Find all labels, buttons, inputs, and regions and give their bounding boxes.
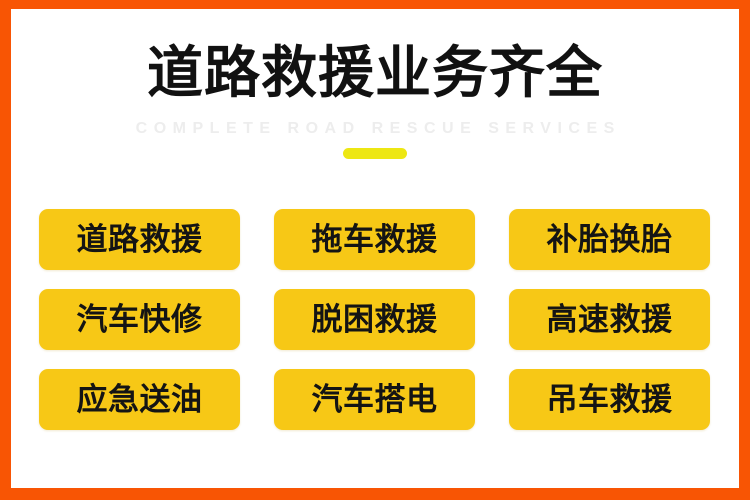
service-button-emergency-fuel-delivery[interactable]: 应急送油 bbox=[39, 369, 240, 430]
title-accent-bar bbox=[343, 148, 407, 159]
service-button-label: 应急送油 bbox=[77, 383, 203, 417]
service-button-extrication-rescue[interactable]: 脱困救援 bbox=[274, 289, 475, 350]
service-button-label: 补胎换胎 bbox=[547, 223, 673, 257]
service-button-tire-repair-replace[interactable]: 补胎换胎 bbox=[509, 209, 710, 270]
service-button-label: 脱困救援 bbox=[312, 303, 438, 337]
service-button-quick-car-repair[interactable]: 汽车快修 bbox=[39, 289, 240, 350]
service-button-jump-start[interactable]: 汽车搭电 bbox=[274, 369, 475, 430]
service-grid: 道路救援 拖车救援 补胎换胎 汽车快修 脱困救援 高速救援 应急送油 汽车搭电 bbox=[39, 209, 711, 430]
service-button-label: 汽车搭电 bbox=[312, 383, 438, 417]
page-subtitle: COMPLETE ROAD RESCUE SERVICES bbox=[11, 119, 739, 139]
service-button-label: 高速救援 bbox=[547, 303, 673, 337]
service-button-highway-rescue[interactable]: 高速救援 bbox=[509, 289, 710, 350]
service-button-tow-rescue[interactable]: 拖车救援 bbox=[274, 209, 475, 270]
service-button-label: 吊车救援 bbox=[547, 383, 673, 417]
service-button-label: 道路救援 bbox=[77, 223, 203, 257]
poster-frame: 道路救援业务齐全 COMPLETE ROAD RESCUE SERVICES 道… bbox=[0, 0, 750, 500]
poster-card: 道路救援业务齐全 COMPLETE ROAD RESCUE SERVICES 道… bbox=[11, 9, 739, 488]
header-section: 道路救援业务齐全 COMPLETE ROAD RESCUE SERVICES bbox=[11, 9, 739, 199]
page-title: 道路救援业务齐全 bbox=[11, 43, 739, 105]
service-button-label: 拖车救援 bbox=[312, 223, 438, 257]
service-button-road-rescue[interactable]: 道路救援 bbox=[39, 209, 240, 270]
service-button-label: 汽车快修 bbox=[77, 303, 203, 337]
service-button-crane-rescue[interactable]: 吊车救援 bbox=[509, 369, 710, 430]
